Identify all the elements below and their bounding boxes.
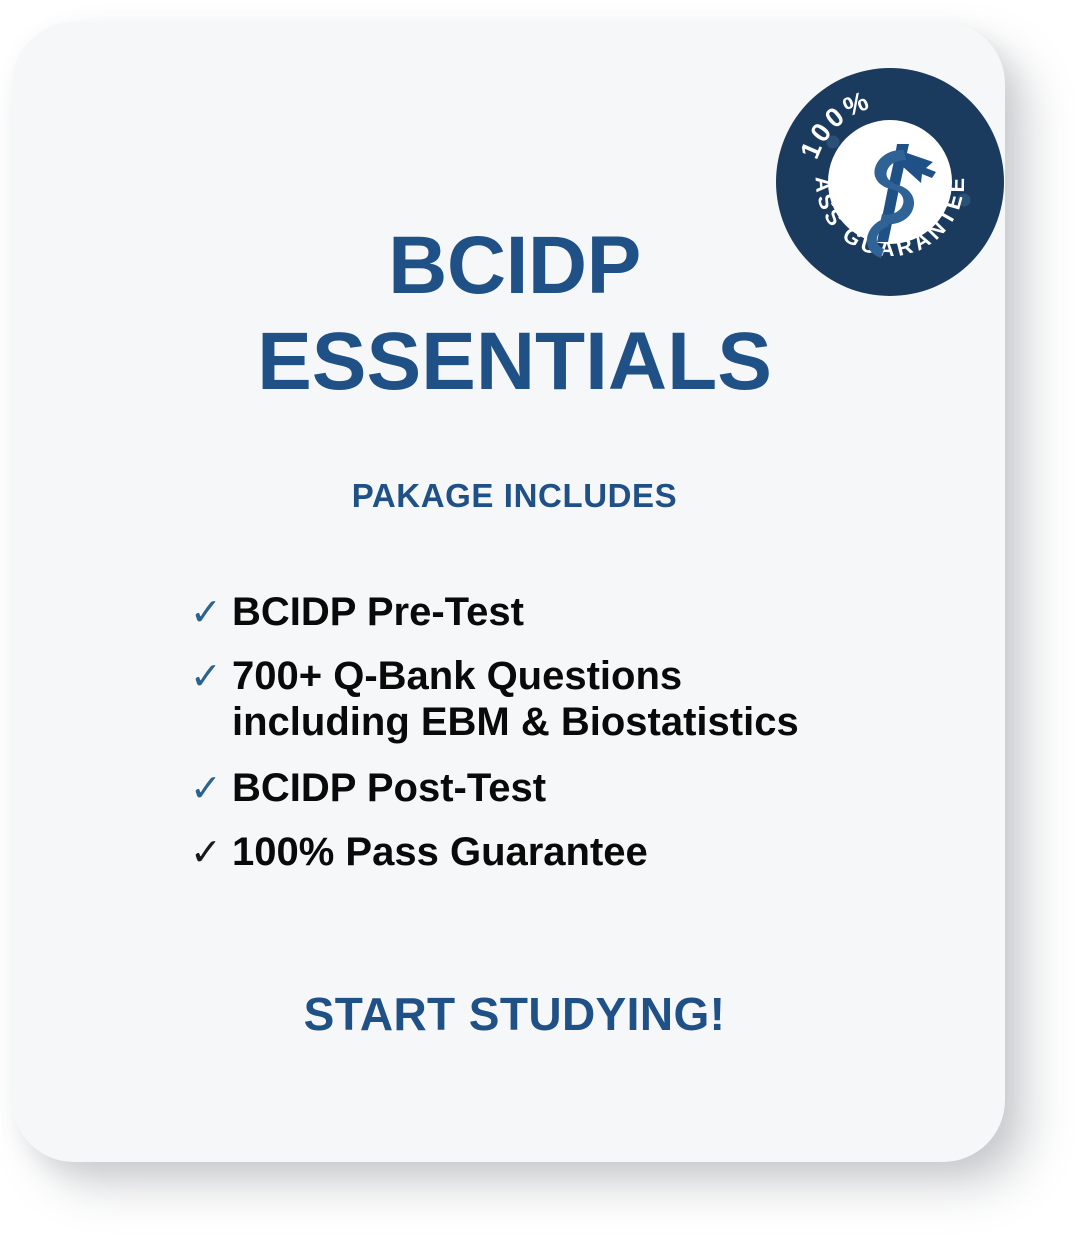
start-studying-cta[interactable]: START STUDYING! [12,987,1017,1041]
promo-screenshot: 100% PASS GUARANTEE [0,0,1080,1240]
list-item-continuation: including EBM & Biostatistics [190,702,950,742]
title-line-2: ESSENTIALS [12,314,1017,410]
title-line-1: BCIDP [12,218,1017,314]
list-item-label: BCIDP Pre-Test [232,592,524,632]
list-item: ✓ 700+ Q-Bank Questions [190,656,950,696]
package-includes-heading: PAKAGE INCLUDES [12,477,1017,515]
list-item-label: BCIDP Post-Test [232,768,546,808]
list-item-label: 700+ Q-Bank Questions [232,656,682,696]
check-icon: ✓ [190,658,232,696]
list-item-label: including EBM & Biostatistics [232,702,799,742]
check-icon: ✓ [190,834,232,872]
list-item-label: 100% Pass Guarantee [232,832,648,872]
list-item: ✓ BCIDP Post-Test [190,768,950,808]
list-item: ✓ BCIDP Pre-Test [190,592,950,632]
feature-list: ✓ BCIDP Pre-Test ✓ 700+ Q-Bank Questions… [190,592,950,896]
list-item: ✓ 100% Pass Guarantee [190,832,950,872]
check-icon: ✓ [190,594,232,632]
check-icon: ✓ [190,770,232,808]
promo-card: 100% PASS GUARANTEE [12,22,1005,1162]
page-title: BCIDP ESSENTIALS [12,218,1017,410]
